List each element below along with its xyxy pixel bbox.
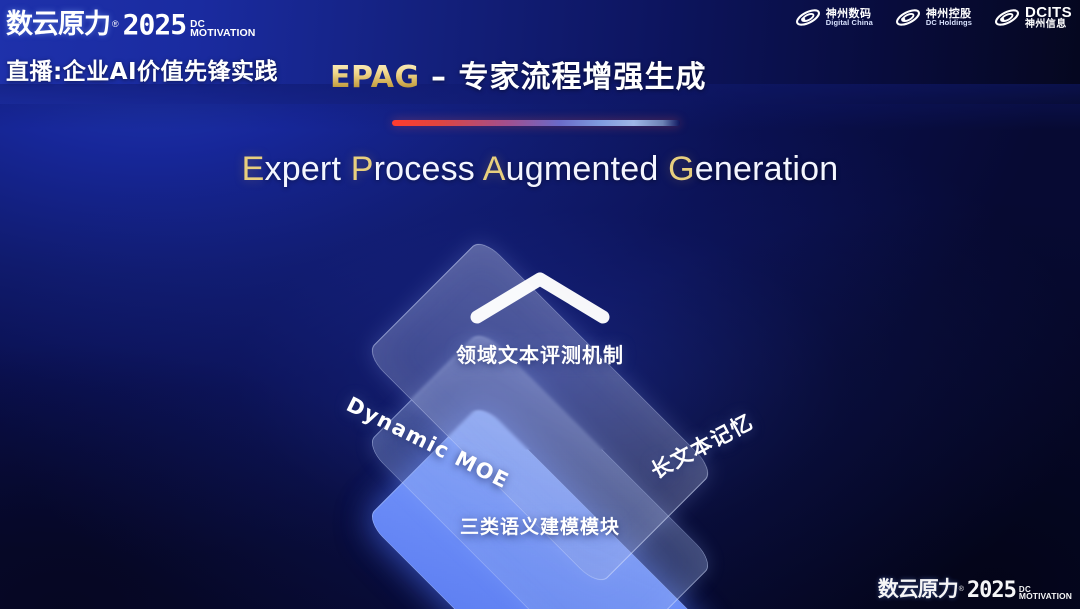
subtitle-cap-p: P	[351, 150, 374, 188]
partner-name-en: DC Holdings	[926, 19, 972, 27]
diagram-layer-bottom-label: 三类语义建模模块	[460, 512, 620, 539]
brand-logo-year: 2025	[123, 8, 186, 41]
chevron-up-icon	[465, 267, 615, 327]
subtitle: Expert Process Augmented Generation	[0, 150, 1080, 189]
brand-logo-dc-motivation: DC MOTIVATION	[190, 20, 255, 39]
page-title-abbr: EPAG	[330, 60, 420, 95]
partner-logo-dcits: DCITS 神州信息	[994, 5, 1072, 30]
partner-name-cn: 神州信息	[1025, 20, 1072, 30]
partner-logo-text: DCITS 神州信息	[1025, 5, 1072, 30]
subtitle-cap-e: E	[242, 150, 265, 188]
partner-logo-dc-holdings: 神州控股 DC Holdings	[895, 7, 972, 28]
swirl-icon	[795, 7, 821, 28]
diagram-layer-top-label: 领域文本评测机制	[456, 339, 624, 368]
swirl-icon	[994, 7, 1020, 28]
page-title-cn: 专家流程增强生成	[458, 60, 706, 95]
page-title-dash: –	[420, 60, 459, 95]
partner-name-en: DCITS	[1025, 5, 1072, 20]
subtitle-cap-g: G	[668, 150, 695, 188]
brand-logo-motivation: MOTIVATION	[190, 29, 255, 39]
partner-logo-text: 神州控股 DC Holdings	[926, 8, 972, 27]
brand-logo-cn: 数云原力	[6, 2, 110, 41]
watermark-motivation: MOTIVATION	[1019, 593, 1072, 601]
brand-logo: 数云原力 ® 2025 DC MOTIVATION	[6, 2, 255, 41]
watermark-logo: 数云原力 ® 2025 DC MOTIVATION	[878, 573, 1072, 603]
subtitle-word-augmented: ugmented	[506, 150, 668, 188]
live-session-title: 直播:企业AI价值先锋实践	[6, 52, 278, 86]
layer-stack-diagram: 领域文本评测机制 Dynamic MOE 长文本记忆 三类语义建模模块	[240, 215, 840, 595]
watermark-year: 2025	[967, 578, 1016, 603]
brand-logo-registered: ®	[112, 19, 119, 29]
page-title: EPAG – 专家流程增强生成	[330, 52, 706, 96]
partner-logo-digital-china: 神州数码 Digital China	[795, 7, 873, 28]
partner-name-en: Digital China	[826, 19, 873, 27]
gradient-divider	[392, 120, 680, 126]
slide-canvas: 数云原力 ® 2025 DC MOTIVATION 直播:企业AI价值先锋实践 …	[0, 0, 1080, 609]
partner-logo-text: 神州数码 Digital China	[826, 8, 873, 27]
watermark-registered: ®	[959, 586, 964, 593]
swirl-icon	[895, 7, 921, 28]
watermark-dc-motivation: DC MOTIVATION	[1019, 586, 1072, 601]
subtitle-word-generation: eneration	[695, 150, 839, 188]
watermark-cn: 数云原力	[878, 573, 958, 603]
subtitle-cap-a: A	[483, 150, 506, 188]
subtitle-word-expert: xpert	[265, 150, 351, 188]
subtitle-word-process: rocess	[374, 150, 483, 188]
partner-logo-group: 神州数码 Digital China 神州控股 DC Holdings	[795, 5, 1072, 30]
